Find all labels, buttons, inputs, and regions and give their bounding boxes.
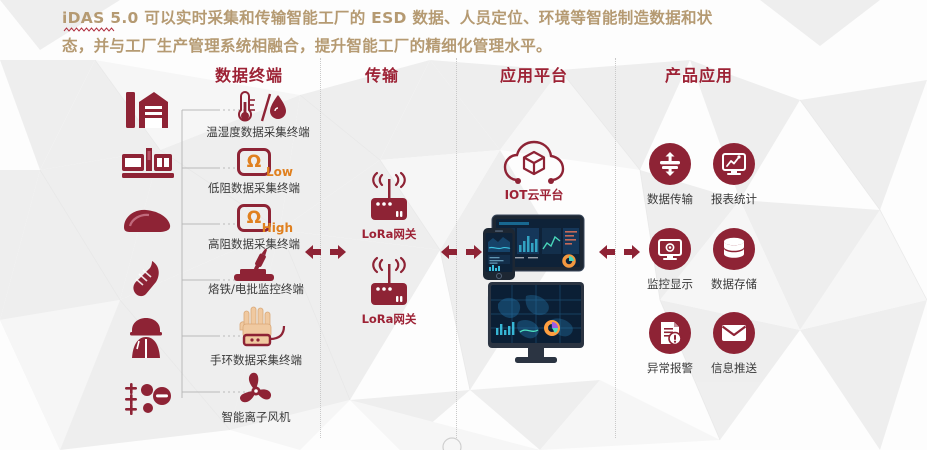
arrow-transmission-to-platform <box>440 243 483 261</box>
product-label-envelope-push: 信息推送 <box>711 360 757 376</box>
omega-low-icon: Ω Low <box>237 148 271 176</box>
column-title-application-platform: 应用平台 <box>500 62 568 86</box>
header-line-2: 态，并与工厂生产管理系统相融合，提升智能工厂的精细化管理水平。 <box>62 32 869 60</box>
ionizer-symbol-icon <box>124 383 172 413</box>
soldering-iron-icon <box>228 252 284 282</box>
transmission-label-gateway-2: LoRa网关 <box>362 311 417 327</box>
transmission-label-gateway-1: LoRa网关 <box>362 226 417 242</box>
arrow-platform-to-products <box>598 243 641 261</box>
product-label-report-chart: 报表统计 <box>711 191 757 207</box>
header-description: iDAS 5.0 可以实时采集和传输智能工厂的 ESD 数据、人员定位、环境等智… <box>0 0 927 58</box>
arrow-right-icon <box>465 243 483 261</box>
product-item-data-transfer[interactable]: 数据传输 <box>647 143 693 207</box>
product-label-monitor-display: 监控显示 <box>647 276 693 292</box>
terminal-label-temp-humidity: 温湿度数据采集终端 <box>206 124 310 140</box>
envelope-push-icon <box>713 312 755 354</box>
product-item-report-chart[interactable]: 报表统计 <box>711 143 757 207</box>
product-label-alarm-document: 异常报警 <box>647 360 693 376</box>
terminal-label-high-resistance: 高阻数据采集终端 <box>208 236 300 252</box>
monitor-display-icon <box>649 228 691 270</box>
terminal-label-ion-fan: 智能离子风机 <box>222 409 291 425</box>
data-transfer-icon <box>649 143 691 185</box>
column-title-transmission: 传输 <box>365 62 399 86</box>
header-line-1: iDAS 5.0 可以实时采集和传输智能工厂的 ESD 数据、人员定位、环境等智… <box>62 4 869 32</box>
product-item-database-storage[interactable]: 数据存储 <box>711 228 757 292</box>
product-label-database-storage: 数据存储 <box>711 276 757 292</box>
lora-gateway-icon-1 <box>363 173 415 225</box>
omega-low-tag: Low <box>266 165 293 179</box>
omega-high-tag: High <box>262 221 293 235</box>
alarm-document-icon <box>649 312 691 354</box>
terminal-label-low-resistance: 低阻数据采集终端 <box>208 180 300 196</box>
arrow-right-icon <box>329 243 347 261</box>
terminal-label-soldering-monitor: 烙铁/电批监控终端 <box>208 281 304 297</box>
spellcheck-squiggle <box>64 27 116 33</box>
worker-helmet-icon <box>126 316 166 360</box>
shoe-sole-icon <box>122 205 172 235</box>
product-item-monitor-display[interactable]: 监控显示 <box>647 228 693 292</box>
product-label-data-transfer: 数据传输 <box>647 191 693 207</box>
thermometer-humidity-icon <box>232 92 288 124</box>
workbench-machine-icon <box>122 148 174 182</box>
product-item-envelope-push[interactable]: 信息推送 <box>711 312 757 376</box>
column-title-data-terminal: 数据终端 <box>215 62 283 86</box>
platform-label-iot-cloud: IOT云平台 <box>505 186 564 203</box>
report-chart-icon <box>713 143 755 185</box>
ion-fan-icon <box>234 372 278 410</box>
omega-high-icon: Ω High <box>237 204 271 232</box>
arrow-right-icon <box>623 243 641 261</box>
arrow-left-icon <box>304 243 322 261</box>
terminal-label-wristband: 手环数据采集终端 <box>210 352 302 368</box>
phone-dashboard-icon <box>483 228 515 280</box>
column-title-product-application: 产品应用 <box>665 62 733 86</box>
infographic-root: iDAS 5.0 可以实时采集和传输智能工厂的 ESD 数据、人员定位、环境等智… <box>0 0 927 450</box>
arrow-left-icon <box>598 243 616 261</box>
arrow-left-icon <box>440 243 458 261</box>
product-item-alarm-document[interactable]: 异常报警 <box>647 312 693 376</box>
iot-cloud-icon <box>502 140 566 186</box>
wristband-hand-icon <box>232 306 290 352</box>
factory-building-icon <box>124 90 170 130</box>
monitor-dashboard-icon <box>488 282 584 366</box>
finger-cot-icon <box>126 258 166 298</box>
lora-gateway-icon-2 <box>363 258 415 310</box>
arrow-terminals-to-transmission <box>304 243 347 261</box>
database-storage-icon <box>713 228 755 270</box>
